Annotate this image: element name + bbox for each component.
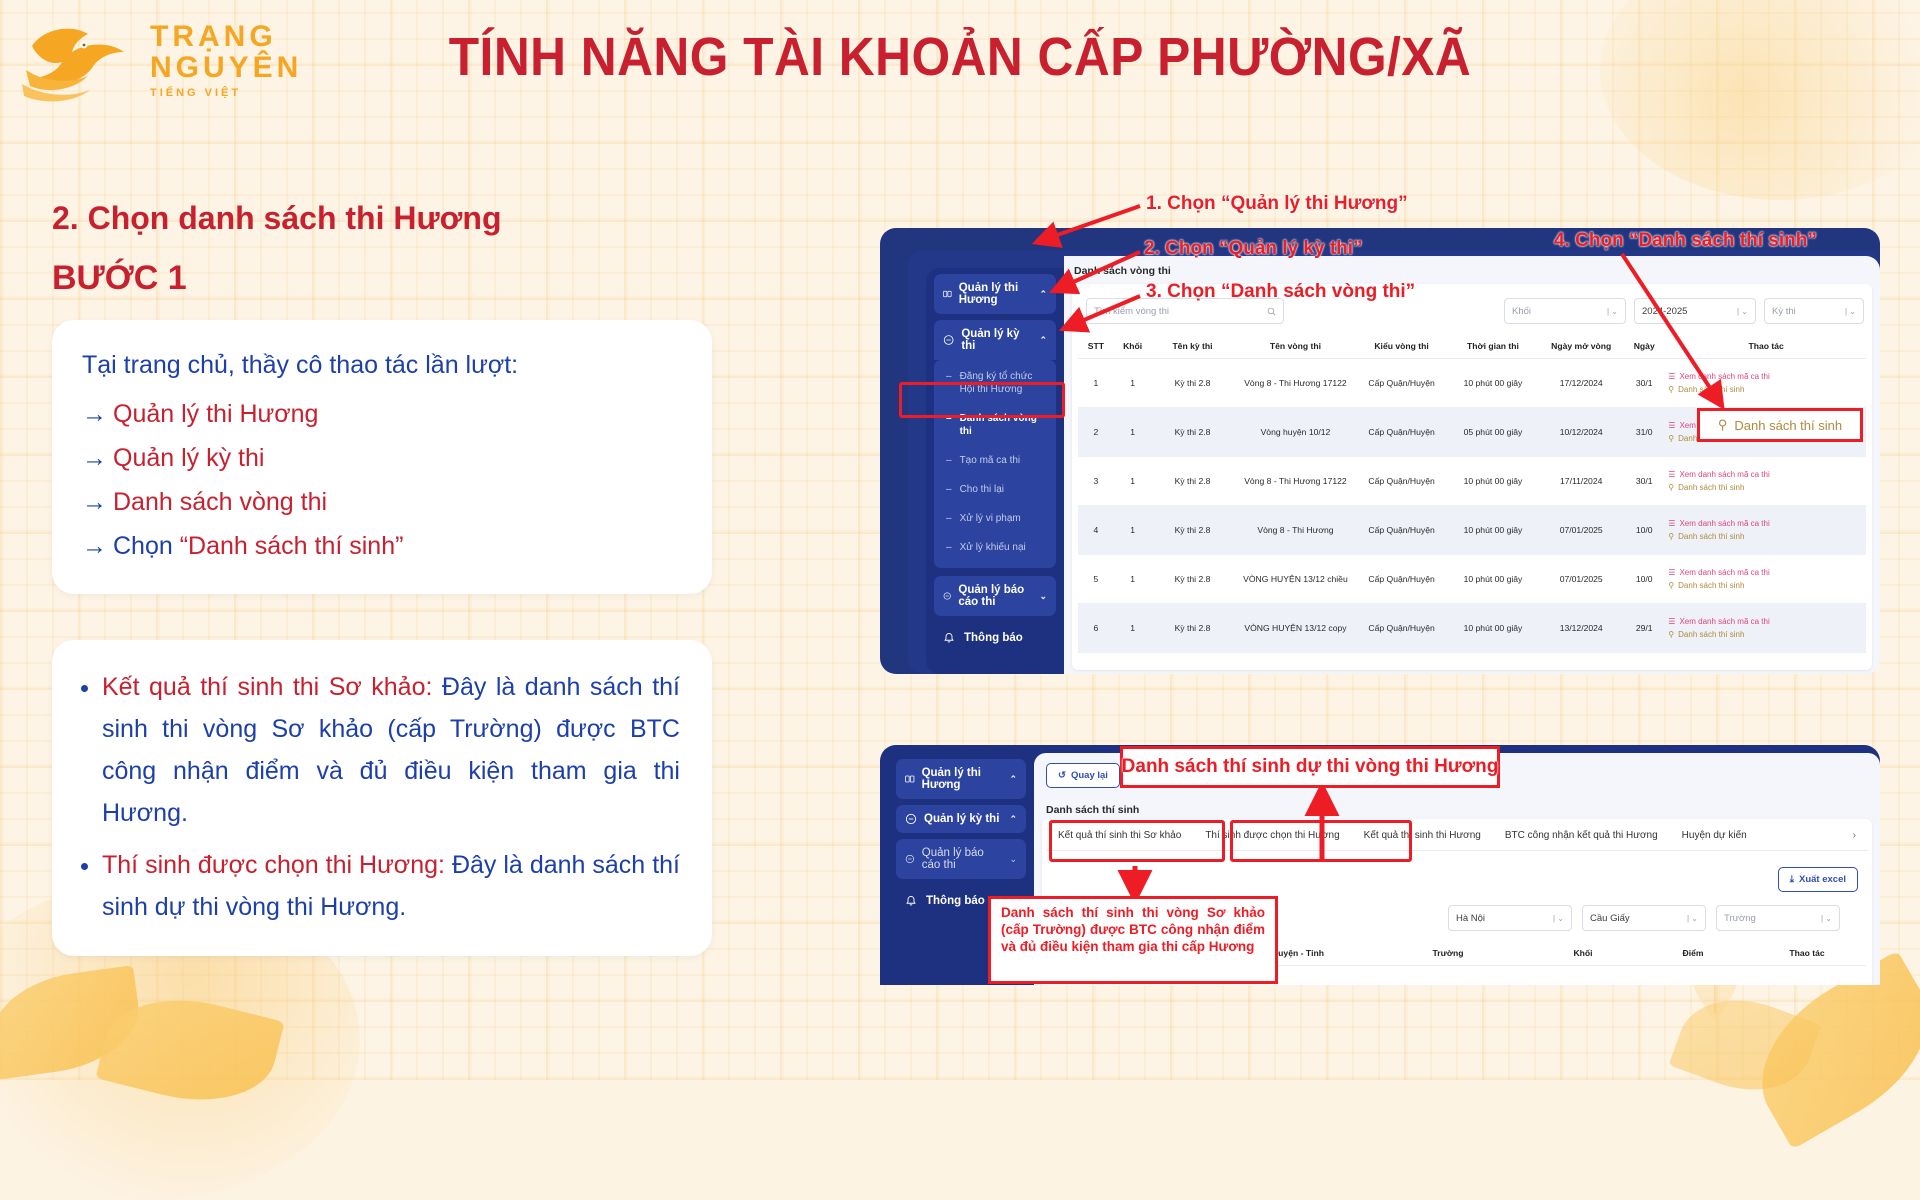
- highlight-danh-sach-thi-sinh-button[interactable]: ⚲ Danh sách thí sinh: [1697, 408, 1863, 442]
- person-icon: ⚲: [1718, 417, 1728, 433]
- annotation-b2-panel: Danh sách thí sinh thi vòng Sơ khảo (cấp…: [988, 896, 1278, 984]
- annotation-b1-panel: Danh sách thí sinh dự thi vòng thi Hương: [1120, 746, 1500, 788]
- annotation-b2-text: Danh sách thí sinh thi vòng Sơ khảo (cấp…: [1001, 904, 1265, 955]
- annotation-arrows-bottom: [0, 0, 1920, 1080]
- highlight-button-label: Danh sách thí sinh: [1734, 418, 1842, 433]
- annotation-b1-text: Danh sách thí sinh dự thi vòng thi Hương: [1122, 756, 1499, 778]
